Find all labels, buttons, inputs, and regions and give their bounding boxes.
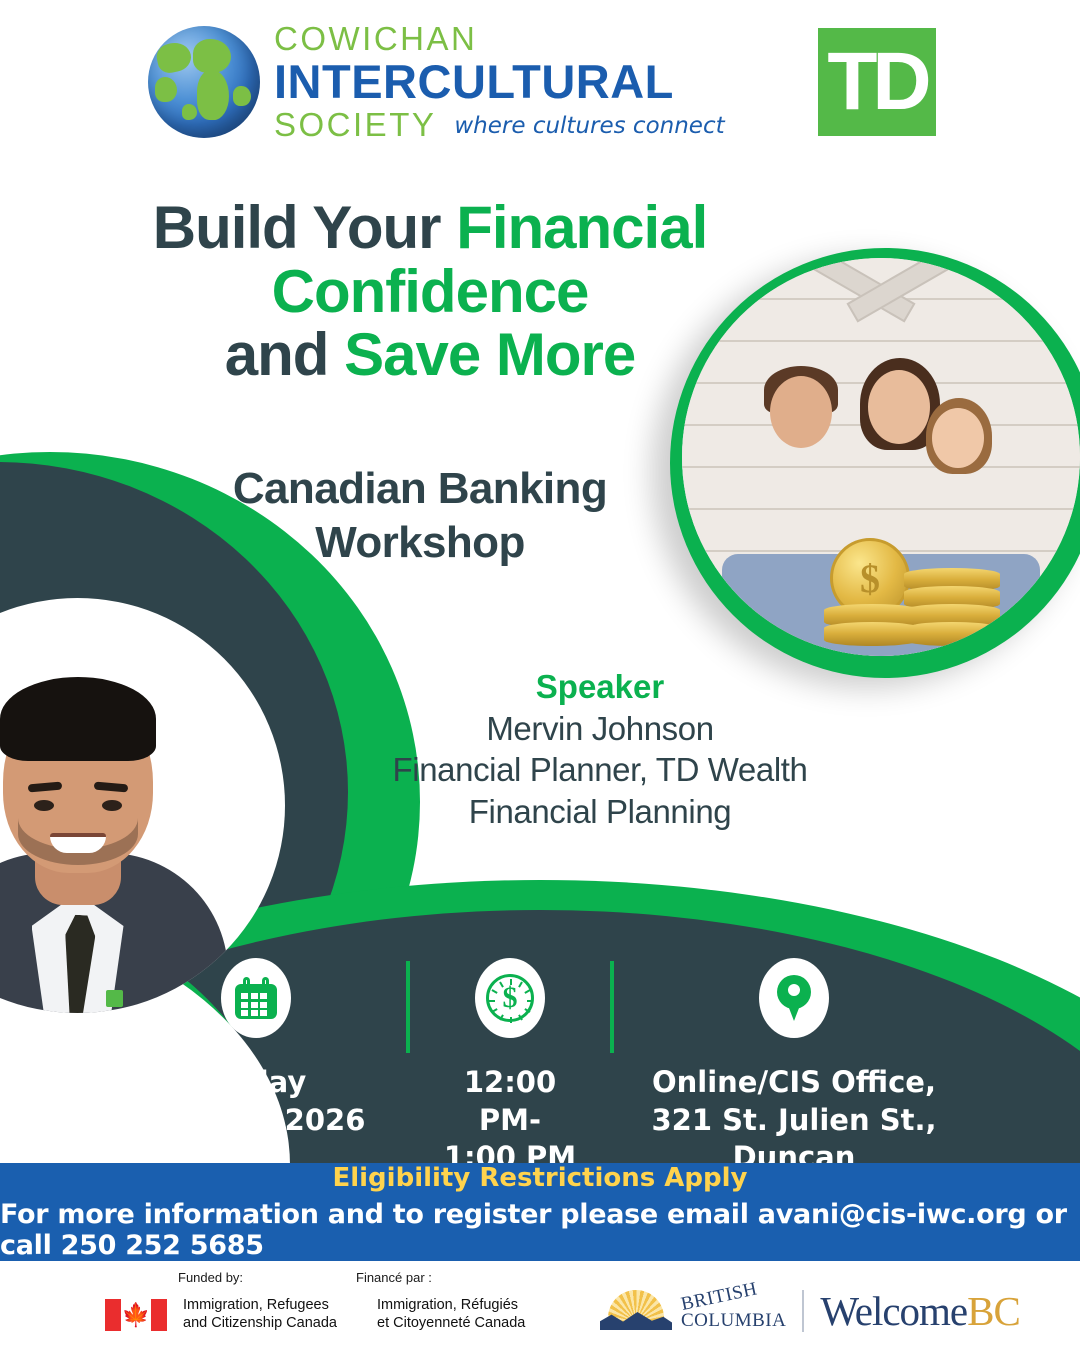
cis-logo-line1: COWICHAN	[274, 22, 725, 55]
gold-coins-graphic: $	[818, 536, 1018, 654]
family-photo-father-head	[770, 376, 832, 448]
funded-by-fr: Financé par :	[356, 1270, 432, 1285]
portrait-eye-left	[34, 800, 54, 811]
portrait-hair	[0, 677, 156, 761]
speaker-portrait-image	[0, 598, 285, 1013]
event-time-block: $ 12:00 PM- 1:00 PM	[410, 958, 610, 1177]
british-columbia-logo: BRITISH COLUMBIA	[600, 1288, 786, 1334]
portrait-eye-right	[102, 800, 122, 811]
ircc-logo: 🍁 Immigration, Refugees and Citizenship …	[105, 1297, 525, 1332]
bc-sun-mountain-icon	[600, 1288, 672, 1334]
welcomebc-logo: WelcomeBC	[820, 1287, 1020, 1335]
speaker-section: Speaker Mervin Johnson Financial Planner…	[340, 668, 860, 832]
bc-welcomebc-logos: BRITISH COLUMBIA WelcomeBC	[600, 1287, 1020, 1335]
cowichan-intercultural-society-logo: COWICHAN INTERCULTURAL SOCIETY where cul…	[148, 22, 725, 141]
subtitle-line-1: Canadian Banking	[233, 464, 607, 513]
calendar-icon	[221, 958, 291, 1038]
contact-cta-bar: Eligibility Restrictions Apply For more …	[0, 1163, 1080, 1261]
event-details-bar: Friday May 8th, 2026 $ 12	[0, 958, 1080, 1158]
portrait-smile	[50, 833, 106, 853]
td-bank-logo: TD	[818, 28, 936, 136]
page-subtitle: Canadian Banking Workshop	[140, 462, 700, 569]
family-photo-mother-head	[868, 370, 930, 444]
event-time-line-1: 12:00 PM-	[464, 1065, 556, 1137]
cis-logo-line3: SOCIETY	[274, 108, 436, 141]
logo-separator	[802, 1290, 804, 1332]
event-time-text: 12:00 PM- 1:00 PM	[430, 1064, 590, 1177]
cis-logo-line2: INTERCULTURAL	[274, 58, 725, 105]
footer: Funded by: Financé par : 🍁 Immigration, …	[0, 1261, 1080, 1350]
event-date-ordinal: th	[243, 1104, 263, 1124]
td-logo-mark: TD	[827, 41, 926, 123]
ircc-fr-line-1: Immigration, Réfugiés	[377, 1297, 518, 1313]
event-location-line-1: Online/CIS Office,	[652, 1065, 936, 1099]
funded-by-en: Funded by:	[178, 1270, 356, 1285]
page-title: Build Your Financial Confidence and Save…	[110, 196, 750, 387]
speaker-label: Speaker	[340, 668, 860, 706]
funded-by-labels: Funded by: Financé par :	[178, 1270, 578, 1285]
map-pin-icon	[759, 958, 829, 1038]
globe-icon	[148, 26, 260, 138]
ircc-text-en: Immigration, Refugees and Citizenship Ca…	[183, 1297, 361, 1332]
speaker-name: Mervin Johnson	[340, 708, 860, 749]
cis-logo-wordmark: COWICHAN INTERCULTURAL SOCIETY where cul…	[274, 22, 725, 141]
event-day: Friday	[206, 1065, 307, 1099]
ircc-fr-line-2: et Citoyenneté Canada	[377, 1315, 525, 1331]
event-month-day: May 8	[147, 1103, 244, 1137]
clock-dollar-icon: $	[475, 958, 545, 1038]
welcomebc-welcome: Welcome	[820, 1288, 967, 1334]
speaker-portrait	[0, 598, 285, 1013]
contact-info-text: For more information and to register ple…	[0, 1199, 1080, 1261]
ircc-en-line-2: and Citizenship Canada	[183, 1315, 337, 1331]
eligibility-notice: Eligibility Restrictions Apply	[332, 1163, 747, 1193]
event-location-text: Online/CIS Office, 321 St. Julien St., D…	[634, 1064, 954, 1177]
bc-wordmark: BRITISH COLUMBIA	[681, 1292, 786, 1330]
welcomebc-bc: BC	[967, 1288, 1020, 1334]
speaker-title-line-2: Financial Planning	[340, 791, 860, 832]
subtitle-line-2: Workshop	[315, 518, 525, 567]
event-date-text: Friday May 8th, 2026	[126, 1064, 386, 1139]
cis-logo-tagline: where cultures connect	[454, 115, 724, 141]
event-location-block: Online/CIS Office, 321 St. Julien St., D…	[614, 958, 974, 1177]
event-year: , 2026	[264, 1103, 366, 1137]
clock-dollar-symbol: $	[503, 983, 518, 1013]
speaker-title-line-1: Financial Planner, TD Wealth	[340, 749, 860, 790]
headline-line-2: Confidence	[272, 258, 589, 325]
canada-flag-icon: 🍁	[105, 1299, 167, 1331]
family-photo-child-head	[932, 408, 984, 468]
ircc-en-line-1: Immigration, Refugees	[183, 1297, 329, 1313]
ircc-text-fr: Immigration, Réfugiés et Citoyenneté Can…	[377, 1297, 525, 1332]
header: COWICHAN INTERCULTURAL SOCIETY where cul…	[0, 0, 1080, 170]
headline-line-1: Build Your Financial	[153, 194, 708, 261]
headline-line-3: and Save More	[225, 321, 636, 388]
event-date-block: Friday May 8th, 2026	[106, 958, 406, 1139]
